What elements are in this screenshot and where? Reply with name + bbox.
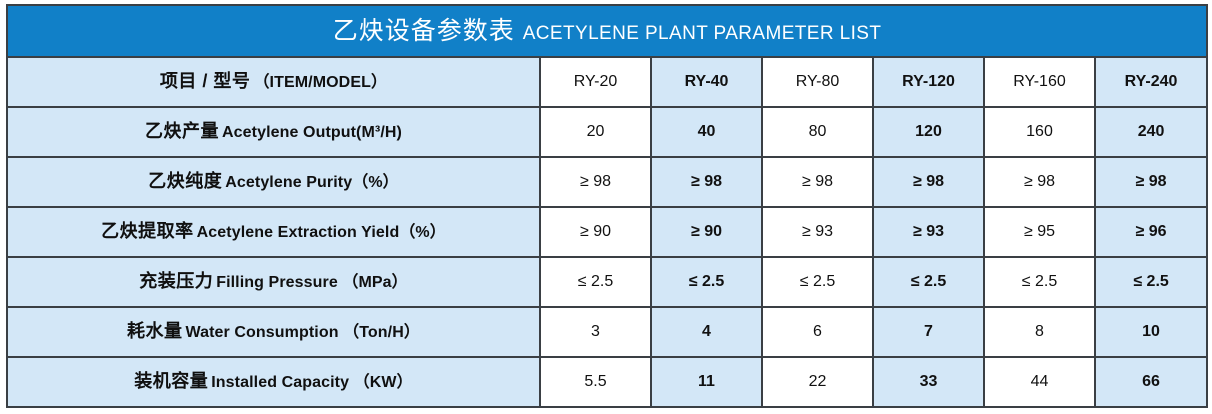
row-label-acetylene-output: 乙炔产量 Acetylene Output(M³/H) (7, 107, 540, 157)
parameter-table-sheet: 乙炔设备参数表 ACETYLENE PLANT PARAMETER LIST 项… (0, 0, 1212, 414)
cell-capacity-ry240: 66 (1095, 357, 1207, 407)
cell-model-ry240: RY-240 (1095, 57, 1207, 107)
cell-capacity-ry160: 44 (984, 357, 1095, 407)
table-row: 项目 / 型号 （ITEM/MODEL） RY-20 RY-40 RY-80 R… (7, 57, 1207, 107)
cell-water-ry160: 8 (984, 307, 1095, 357)
row-label-english: Acetylene Extraction Yield（%） (197, 225, 446, 241)
title-english: ACETYLENE PLANT PARAMETER LIST (523, 24, 882, 43)
table-row: 充装压力 Filling Pressure （MPa） ≤ 2.5 ≤ 2.5 … (7, 257, 1207, 307)
cell-pressure-ry40: ≤ 2.5 (651, 257, 762, 307)
cell-pressure-ry80: ≤ 2.5 (762, 257, 873, 307)
row-label-english: Acetylene Purity（%） (225, 175, 399, 191)
row-label-chinese: 耗水量 (127, 322, 183, 340)
cell-output-ry160: 160 (984, 107, 1095, 157)
table-row: 耗水量 Water Consumption （Ton/H） 3 4 6 7 8 … (7, 307, 1207, 357)
cell-output-ry120: 120 (873, 107, 984, 157)
cell-yield-ry240: ≥ 96 (1095, 207, 1207, 257)
row-label-english: （ITEM/MODEL） (253, 75, 387, 91)
table-row: 乙炔产量 Acetylene Output(M³/H) 20 40 80 120… (7, 107, 1207, 157)
row-label-chinese: 乙炔提取率 (101, 222, 194, 240)
cell-pressure-ry120: ≤ 2.5 (873, 257, 984, 307)
row-label-chinese: 项目 / 型号 (160, 72, 251, 90)
cell-water-ry120: 7 (873, 307, 984, 357)
cell-yield-ry120: ≥ 93 (873, 207, 984, 257)
cell-model-ry80: RY-80 (762, 57, 873, 107)
row-label-chinese: 充装压力 (139, 272, 213, 290)
cell-yield-ry40: ≥ 90 (651, 207, 762, 257)
cell-model-ry120: RY-120 (873, 57, 984, 107)
table-title-row: 乙炔设备参数表 ACETYLENE PLANT PARAMETER LIST (7, 5, 1207, 57)
cell-output-ry240: 240 (1095, 107, 1207, 157)
cell-purity-ry240: ≥ 98 (1095, 157, 1207, 207)
row-label-english: Water Consumption （Ton/H） (186, 325, 420, 341)
cell-model-ry40: RY-40 (651, 57, 762, 107)
cell-purity-ry40: ≥ 98 (651, 157, 762, 207)
table-row: 乙炔纯度 Acetylene Purity（%） ≥ 98 ≥ 98 ≥ 98 … (7, 157, 1207, 207)
cell-pressure-ry20: ≤ 2.5 (540, 257, 651, 307)
row-label-english: Acetylene Output(M³/H) (222, 125, 402, 141)
row-label-chinese: 乙炔纯度 (148, 172, 222, 190)
row-label-filling-pressure: 充装压力 Filling Pressure （MPa） (7, 257, 540, 307)
acetylene-parameter-table: 乙炔设备参数表 ACETYLENE PLANT PARAMETER LIST 项… (6, 4, 1208, 408)
cell-water-ry40: 4 (651, 307, 762, 357)
row-label-item-model: 项目 / 型号 （ITEM/MODEL） (7, 57, 540, 107)
cell-capacity-ry20: 5.5 (540, 357, 651, 407)
cell-water-ry240: 10 (1095, 307, 1207, 357)
cell-purity-ry20: ≥ 98 (540, 157, 651, 207)
row-label-english: Installed Capacity （KW） (211, 375, 412, 391)
row-label-installed-capacity: 装机容量 Installed Capacity （KW） (7, 357, 540, 407)
cell-pressure-ry160: ≤ 2.5 (984, 257, 1095, 307)
cell-yield-ry160: ≥ 95 (984, 207, 1095, 257)
row-label-water-consumption: 耗水量 Water Consumption （Ton/H） (7, 307, 540, 357)
table-row: 装机容量 Installed Capacity （KW） 5.5 11 22 3… (7, 357, 1207, 407)
cell-yield-ry20: ≥ 90 (540, 207, 651, 257)
cell-output-ry40: 40 (651, 107, 762, 157)
row-label-chinese: 装机容量 (134, 372, 208, 390)
cell-purity-ry80: ≥ 98 (762, 157, 873, 207)
cell-capacity-ry40: 11 (651, 357, 762, 407)
row-label-acetylene-purity: 乙炔纯度 Acetylene Purity（%） (7, 157, 540, 207)
cell-capacity-ry80: 22 (762, 357, 873, 407)
cell-water-ry20: 3 (540, 307, 651, 357)
cell-water-ry80: 6 (762, 307, 873, 357)
cell-pressure-ry240: ≤ 2.5 (1095, 257, 1207, 307)
title-chinese: 乙炔设备参数表 (333, 19, 515, 44)
row-label-chinese: 乙炔产量 (145, 122, 219, 140)
cell-model-ry160: RY-160 (984, 57, 1095, 107)
row-label-extraction-yield: 乙炔提取率 Acetylene Extraction Yield（%） (7, 207, 540, 257)
table-row: 乙炔提取率 Acetylene Extraction Yield（%） ≥ 90… (7, 207, 1207, 257)
cell-output-ry20: 20 (540, 107, 651, 157)
row-label-english: Filling Pressure （MPa） (216, 275, 408, 291)
cell-output-ry80: 80 (762, 107, 873, 157)
table-title-cell: 乙炔设备参数表 ACETYLENE PLANT PARAMETER LIST (7, 5, 1207, 57)
cell-purity-ry160: ≥ 98 (984, 157, 1095, 207)
cell-model-ry20: RY-20 (540, 57, 651, 107)
cell-yield-ry80: ≥ 93 (762, 207, 873, 257)
cell-capacity-ry120: 33 (873, 357, 984, 407)
cell-purity-ry120: ≥ 98 (873, 157, 984, 207)
